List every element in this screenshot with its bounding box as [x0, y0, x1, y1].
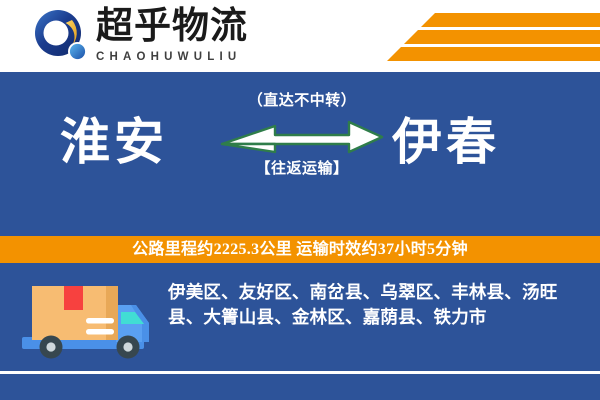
distance-duration-bar: 公路里程约2225.3公里 运输时效约37小时5分钟	[0, 236, 600, 263]
direct-service-caption: （直达不中转）	[212, 92, 392, 110]
brand-block: 超乎物流 CHAOHUWULIU	[96, 7, 276, 67]
bottom-divider	[0, 371, 600, 374]
delivery-truck-icon	[18, 279, 152, 369]
origin-city: 淮安	[60, 114, 168, 170]
brand-name-en: CHAOHUWULIU	[96, 50, 276, 64]
logistics-route-banner: 超乎物流 CHAOHUWULIU 淮安 （直达不中转） 【往返运输】 伊春	[0, 0, 600, 400]
route-arrow-group: （直达不中转） 【往返运输】	[212, 92, 392, 212]
bidirectional-arrow-icon	[212, 114, 392, 158]
banner-header: 超乎物流 CHAOHUWULIU	[0, 0, 600, 72]
coverage-panel: 伊美区、友好区、南岔县、乌翠区、丰林县、汤旺县、大箐山县、金林区、嘉荫县、铁力市	[0, 263, 600, 400]
destination-city: 伊春	[392, 114, 500, 170]
distance-duration-text: 公路里程约2225.3公里 运输时效约37小时5分钟	[132, 236, 468, 263]
roundtrip-caption: 【往返运输】	[212, 160, 392, 178]
coverage-district-list: 伊美区、友好区、南岔县、乌翠区、丰林县、汤旺县、大箐山县、金林区、嘉荫县、铁力市	[168, 280, 580, 330]
chaohu-logistics-circle-logo-icon	[32, 8, 90, 66]
decorative-stripes	[350, 0, 600, 72]
brand-name-cn: 超乎物流	[96, 7, 276, 47]
route-panel: 淮安 （直达不中转） 【往返运输】 伊春	[0, 72, 600, 235]
